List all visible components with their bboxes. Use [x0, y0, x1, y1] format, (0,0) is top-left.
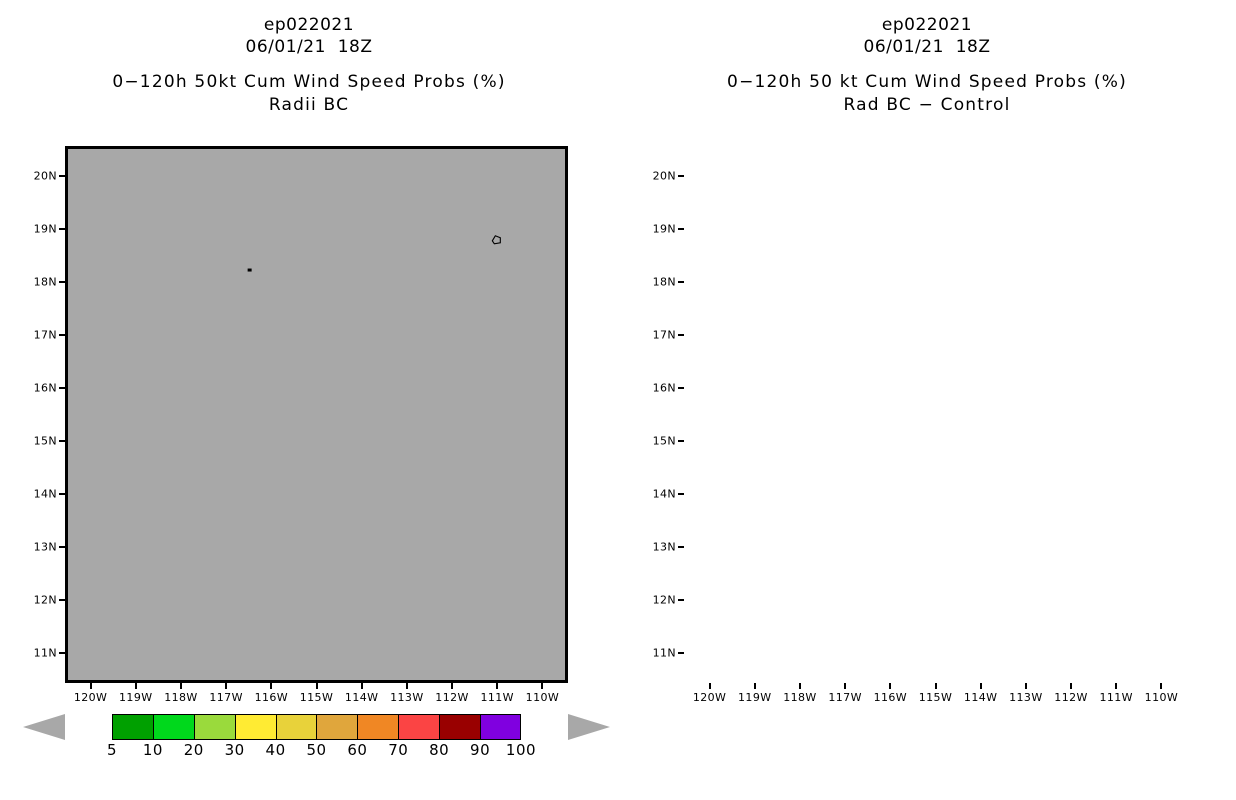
xtick-label: 115W: [300, 691, 333, 704]
ytick-mark: [59, 546, 65, 548]
ytick-label: 17N: [13, 328, 57, 341]
ytick-label: 18N: [13, 275, 57, 288]
forecast-datetime-label: 06/01/21 18Z: [618, 36, 1236, 58]
colorbar-probability-ticklabel: 20: [184, 741, 204, 759]
colorbar-probability-ticklabel: 5: [107, 741, 117, 759]
storm-id-label: ep022021: [0, 14, 618, 36]
colorbar-probability-swatch-1[interactable]: [153, 714, 194, 740]
colorbar-probability-swatch-7[interactable]: [398, 714, 439, 740]
xtick-label: 110W: [526, 691, 559, 704]
chart-title-main: 0−120h 50 kt Cum Wind Speed Probs (%): [618, 70, 1236, 94]
ytick-mark: [678, 334, 684, 336]
xtick-mark: [889, 683, 891, 689]
colorbar-probability-swatch-5[interactable]: [316, 714, 357, 740]
xtick-mark: [406, 683, 408, 689]
xtick-mark: [1070, 683, 1072, 689]
xtick-label: 113W: [390, 691, 423, 704]
colorbar-probability-swatch-3[interactable]: [235, 714, 276, 740]
xtick-mark: [754, 683, 756, 689]
ytick-label: 19N: [13, 222, 57, 235]
ytick-label: 18N: [632, 275, 676, 288]
ytick-label: 15N: [13, 435, 57, 448]
map-plot-left-inner: [68, 149, 565, 680]
xtick-mark: [496, 683, 498, 689]
forecast-datetime-label: 06/01/21 18Z: [0, 36, 618, 58]
xtick-label: 112W: [435, 691, 468, 704]
colorbar-under-arrow-left: [23, 714, 65, 740]
ytick-label: 17N: [632, 328, 676, 341]
xtick-mark: [541, 683, 543, 689]
colorbar-probability-ticklabel: 90: [470, 741, 490, 759]
colorbar-probability-ticklabel: 80: [429, 741, 449, 759]
ytick-mark: [59, 334, 65, 336]
xtick-label: 117W: [209, 691, 242, 704]
xtick-label: 119W: [119, 691, 152, 704]
ytick-mark: [59, 175, 65, 177]
ytick-mark: [678, 599, 684, 601]
ytick-mark: [678, 175, 684, 177]
storm-id-label: ep022021: [618, 14, 1236, 36]
panel-left-titles: ep022021 06/01/21 18Z 0−120h 50kt Cum Wi…: [0, 14, 618, 117]
xtick-label: 114W: [345, 691, 378, 704]
xtick-label: 116W: [255, 691, 288, 704]
ytick-mark: [678, 387, 684, 389]
xtick-mark: [180, 683, 182, 689]
xtick-label: 112W: [1054, 691, 1087, 704]
ytick-mark: [59, 228, 65, 230]
ytick-label: 14N: [632, 488, 676, 501]
ytick-label: 12N: [13, 594, 57, 607]
xtick-mark: [980, 683, 982, 689]
ytick-label: 20N: [632, 169, 676, 182]
xtick-mark: [935, 683, 937, 689]
xtick-label: 113W: [1009, 691, 1042, 704]
colorbar-probability-ticklabel: 30: [225, 741, 245, 759]
colorbar-probability-swatch-2[interactable]: [194, 714, 235, 740]
ytick-label: 14N: [13, 488, 57, 501]
ytick-mark: [59, 387, 65, 389]
ytick-mark: [59, 493, 65, 495]
xtick-mark: [1160, 683, 1162, 689]
xtick-mark: [270, 683, 272, 689]
chart-page: ep022021 06/01/21 18Z 0−120h 50kt Cum Wi…: [0, 0, 1236, 800]
ytick-mark: [59, 281, 65, 283]
ytick-mark: [59, 599, 65, 601]
xtick-mark: [844, 683, 846, 689]
colorbar-probability-ticklabel: 100: [506, 741, 536, 759]
xtick-mark: [1025, 683, 1027, 689]
xtick-mark: [316, 683, 318, 689]
colorbar-probability-swatch-9[interactable]: [480, 714, 521, 740]
ytick-label: 12N: [632, 594, 676, 607]
island-islet-icon: [248, 269, 252, 272]
ytick-mark: [678, 546, 684, 548]
xtick-mark: [1115, 683, 1117, 689]
xtick-label: 120W: [74, 691, 107, 704]
ytick-mark: [59, 440, 65, 442]
xtick-mark: [361, 683, 363, 689]
xtick-label: 111W: [1099, 691, 1132, 704]
coastline-layer: [68, 149, 565, 680]
xtick-mark: [451, 683, 453, 689]
colorbar-probability-swatch-8[interactable]: [439, 714, 480, 740]
ytick-label: 15N: [632, 435, 676, 448]
xtick-mark: [90, 683, 92, 689]
map-plot-left[interactable]: [65, 146, 568, 683]
colorbar-probability-ticklabel: 70: [388, 741, 408, 759]
ytick-label: 20N: [13, 169, 57, 182]
ytick-label: 16N: [632, 381, 676, 394]
xtick-label: 111W: [480, 691, 513, 704]
chart-title-main: 0−120h 50kt Cum Wind Speed Probs (%): [0, 70, 618, 94]
colorbar-probability[interactable]: 5102030405060708090100: [65, 714, 568, 774]
xtick-label: 115W: [919, 691, 952, 704]
xtick-mark: [799, 683, 801, 689]
xtick-mark: [709, 683, 711, 689]
xtick-label: 116W: [874, 691, 907, 704]
colorbar-probability-swatch-0[interactable]: [112, 714, 153, 740]
xtick-label: 114W: [964, 691, 997, 704]
colorbar-probability-ticklabel: 60: [347, 741, 367, 759]
colorbar-probability-ticklabel: 10: [143, 741, 163, 759]
ytick-mark: [59, 652, 65, 654]
colorbar-probability-swatch-4[interactable]: [276, 714, 317, 740]
ytick-label: 13N: [632, 541, 676, 554]
ytick-mark: [678, 493, 684, 495]
colorbar-probability-ticklabel: 50: [306, 741, 326, 759]
ytick-label: 11N: [632, 647, 676, 660]
xtick-label: 117W: [828, 691, 861, 704]
xtick-label: 119W: [738, 691, 771, 704]
xtick-label: 118W: [164, 691, 197, 704]
ytick-mark: [678, 652, 684, 654]
xtick-mark: [225, 683, 227, 689]
xtick-label: 110W: [1145, 691, 1178, 704]
panel-right-titles: ep022021 06/01/21 18Z 0−120h 50 kt Cum W…: [618, 14, 1236, 117]
colorbar-probability-ticklabel: 40: [266, 741, 286, 759]
ytick-mark: [678, 440, 684, 442]
chart-title-sub: Radii BC: [0, 94, 618, 117]
ytick-label: 13N: [13, 541, 57, 554]
colorbar-over-arrow-left: [568, 714, 610, 740]
colorbar-left-ticklabels: 5102030405060708090100: [65, 741, 568, 761]
panel-radii-bc: ep022021 06/01/21 18Z 0−120h 50kt Cum Wi…: [0, 0, 618, 800]
island-socorro-icon: [492, 236, 500, 244]
colorbar-probability-swatch-6[interactable]: [357, 714, 398, 740]
ytick-mark: [678, 228, 684, 230]
ytick-label: 11N: [13, 647, 57, 660]
ytick-label: 19N: [632, 222, 676, 235]
xtick-mark: [135, 683, 137, 689]
xtick-label: 120W: [693, 691, 726, 704]
colorbar-left-bar[interactable]: [112, 714, 521, 740]
chart-title-sub: Rad BC − Control: [618, 94, 1236, 117]
panel-rad-bc-minus-control: ep022021 06/01/21 18Z 0−120h 50 kt Cum W…: [618, 0, 1236, 800]
xtick-label: 118W: [783, 691, 816, 704]
ytick-label: 16N: [13, 381, 57, 394]
ytick-mark: [678, 281, 684, 283]
